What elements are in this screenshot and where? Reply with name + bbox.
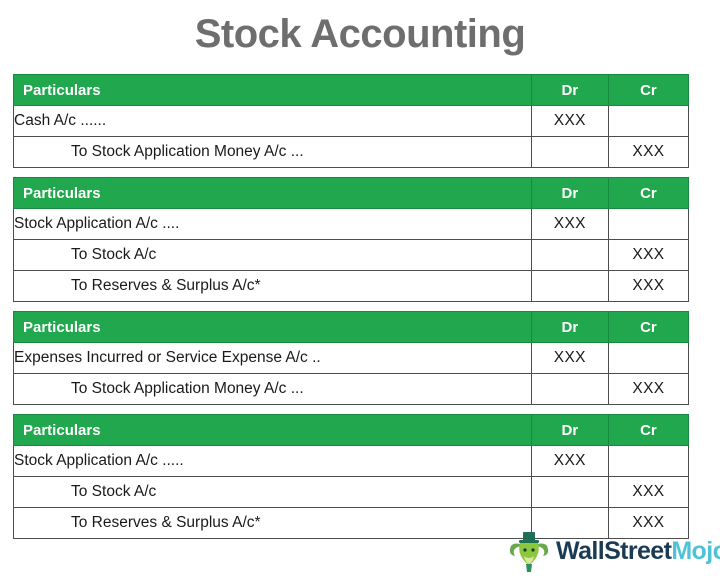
table-header-row: ParticularsDrCr xyxy=(14,312,689,343)
cell-particulars: To Stock Application Money A/c ... xyxy=(14,374,532,405)
cell-dr-amount xyxy=(531,137,608,168)
cell-dr-amount xyxy=(531,271,608,302)
journal-table-entry-1: ParticularsDrCrCash A/c ......XXXTo Stoc… xyxy=(13,74,689,168)
table-header-row: ParticularsDrCr xyxy=(14,415,689,446)
column-header-dr: Dr xyxy=(531,415,608,446)
cell-dr-amount: XXX xyxy=(531,343,608,374)
column-header-cr: Cr xyxy=(608,415,688,446)
page-title: Stock Accounting xyxy=(0,6,720,62)
column-header-dr: Dr xyxy=(531,178,608,209)
column-header-particulars: Particulars xyxy=(14,178,532,209)
cell-particulars: Expenses Incurred or Service Expense A/c… xyxy=(14,343,532,374)
cell-dr-amount: XXX xyxy=(531,106,608,137)
cell-dr-amount xyxy=(531,240,608,271)
cell-cr-amount xyxy=(608,343,688,374)
column-header-dr: Dr xyxy=(531,312,608,343)
journal-table-entry-2: ParticularsDrCrStock Application A/c ...… xyxy=(13,177,689,302)
column-header-particulars: Particulars xyxy=(14,75,532,106)
column-header-cr: Cr xyxy=(608,75,688,106)
cell-cr-amount xyxy=(608,106,688,137)
journal-table-entry-4: ParticularsDrCrStock Application A/c ...… xyxy=(13,414,689,539)
table-header-row: ParticularsDrCr xyxy=(14,75,689,106)
column-header-particulars: Particulars xyxy=(14,312,532,343)
bull-mascot-icon xyxy=(507,529,551,573)
column-header-cr: Cr xyxy=(608,178,688,209)
cell-dr-amount: XXX xyxy=(531,446,608,477)
cell-particulars: Stock Application A/c .... xyxy=(14,209,532,240)
cell-particulars: To Stock Application Money A/c ... xyxy=(14,137,532,168)
cell-dr-amount: XXX xyxy=(531,209,608,240)
cell-cr-amount: XXX xyxy=(608,477,688,508)
table-header-row: ParticularsDrCr xyxy=(14,178,689,209)
cell-dr-amount xyxy=(531,374,608,405)
column-header-cr: Cr xyxy=(608,312,688,343)
table-row: Stock Application A/c ....XXX xyxy=(14,209,689,240)
logo-text: WallStreetMojo xyxy=(556,529,720,573)
cell-particulars: To Stock A/c xyxy=(14,477,532,508)
cell-cr-amount: XXX xyxy=(608,240,688,271)
cell-particulars: Cash A/c ...... xyxy=(14,106,532,137)
table-row: To Stock A/cXXX xyxy=(14,240,689,271)
table-row: Stock Application A/c .....XXX xyxy=(14,446,689,477)
cell-cr-amount xyxy=(608,209,688,240)
table-row: To Stock Application Money A/c ...XXX xyxy=(14,137,689,168)
table-row: Cash A/c ......XXX xyxy=(14,106,689,137)
cell-dr-amount xyxy=(531,477,608,508)
cell-particulars: To Reserves & Surplus A/c* xyxy=(14,508,532,539)
table-row: To Stock A/cXXX xyxy=(14,477,689,508)
table-row: To Reserves & Surplus A/c*XXX xyxy=(14,271,689,302)
cell-particulars: To Reserves & Surplus A/c* xyxy=(14,271,532,302)
table-row: To Stock Application Money A/c ...XXX xyxy=(14,374,689,405)
cell-particulars: Stock Application A/c ..... xyxy=(14,446,532,477)
cell-cr-amount: XXX xyxy=(608,271,688,302)
journal-table-entry-3: ParticularsDrCrExpenses Incurred or Serv… xyxy=(13,311,689,405)
cell-particulars: To Stock A/c xyxy=(14,240,532,271)
cell-cr-amount: XXX xyxy=(608,137,688,168)
table-row: Expenses Incurred or Service Expense A/c… xyxy=(14,343,689,374)
column-header-particulars: Particulars xyxy=(14,415,532,446)
journal-entries-container: ParticularsDrCrCash A/c ......XXXTo Stoc… xyxy=(13,74,689,548)
logo-text-secondary: Mojo xyxy=(671,537,720,565)
logo-text-primary: WallStreet xyxy=(556,537,671,565)
column-header-dr: Dr xyxy=(531,75,608,106)
cell-cr-amount: XXX xyxy=(608,374,688,405)
cell-cr-amount xyxy=(608,446,688,477)
wallstreetmojo-logo: WallStreetMojo xyxy=(507,527,720,575)
